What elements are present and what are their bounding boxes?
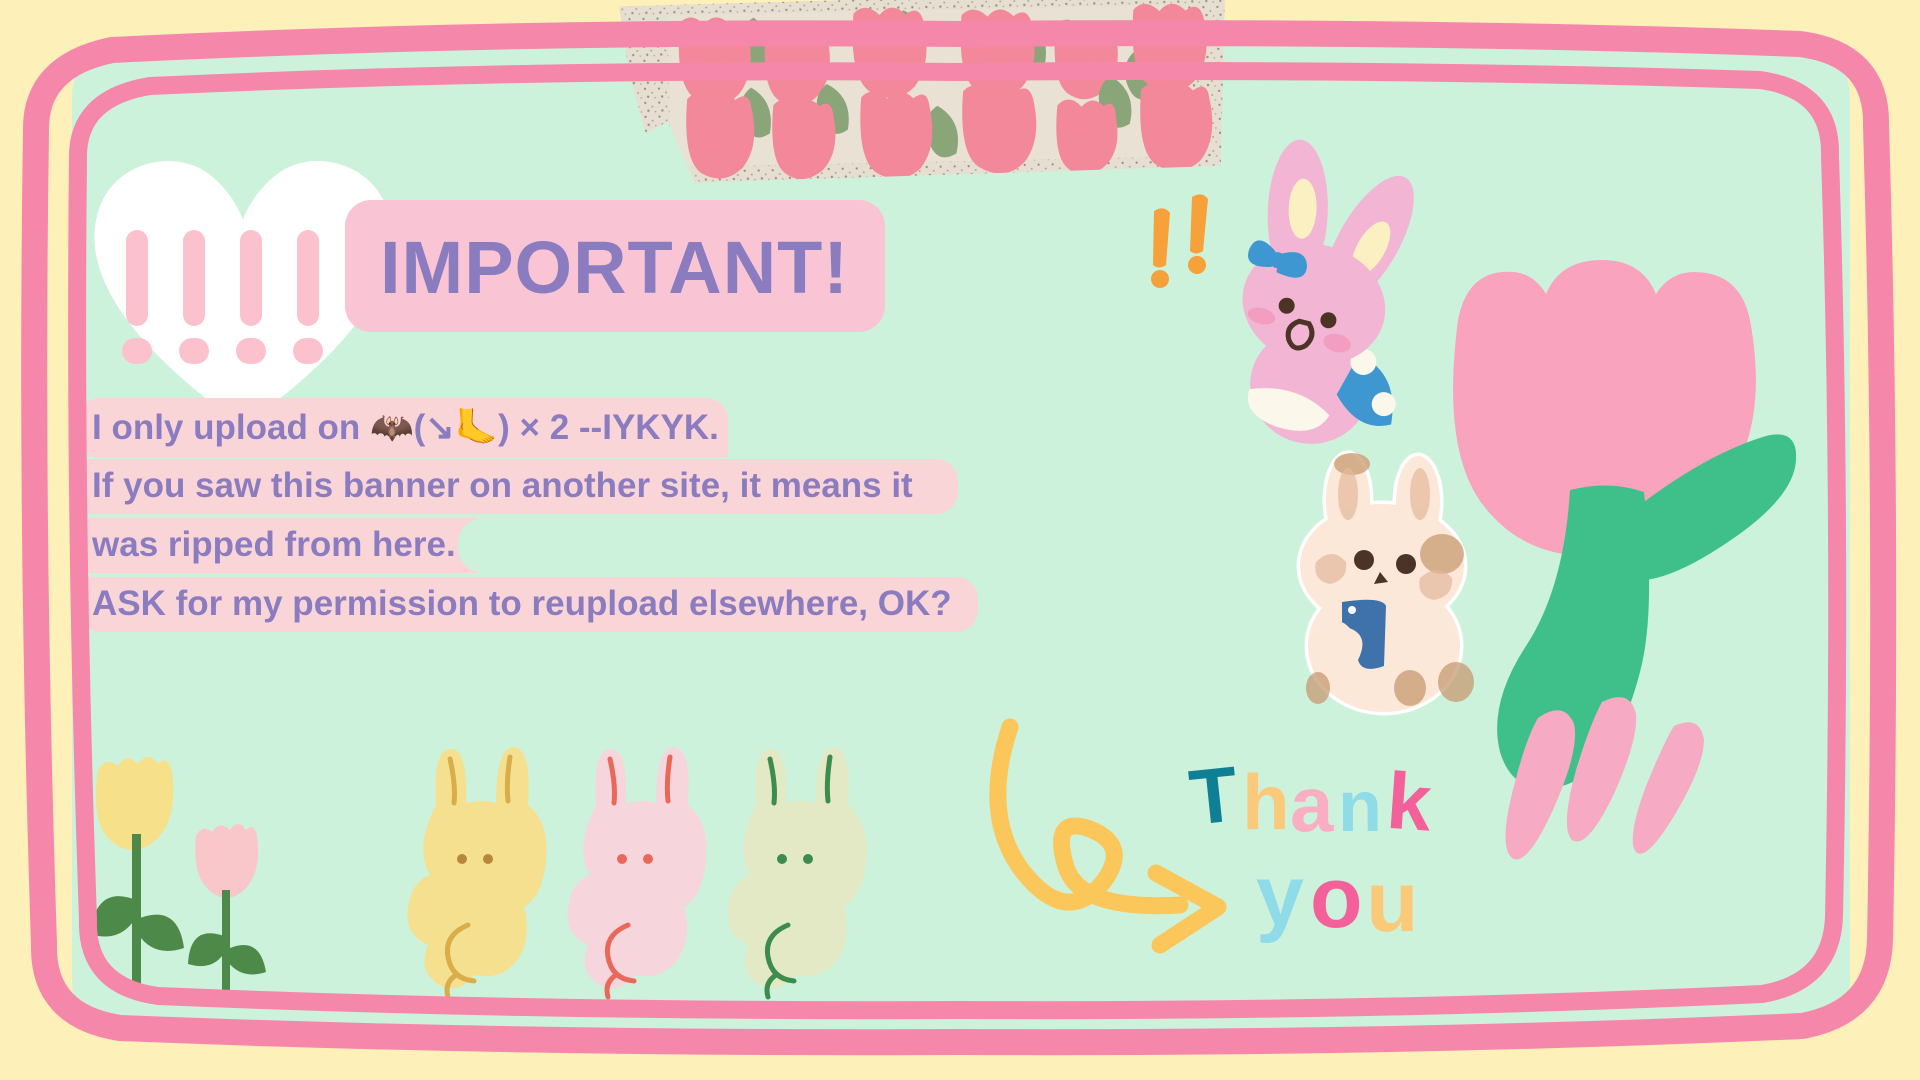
notice-line-text: If you saw this banner on another site, … [92,457,913,515]
notice-line: was ripped from here. [78,516,958,575]
notice-line-text: I only upload on 🦇(↘🦶) × 2 --IYKYK. [92,398,719,456]
small-tulips-group [90,750,340,1010]
thank-you-letter-k: k [1384,756,1435,848]
thank-you-letter-n: n [1338,767,1382,847]
gummy-bunny-yellow [407,747,546,997]
thank-you-letter-u: u [1366,854,1419,950]
banner-canvas: IMPORTANT! I only upload on 🦇(↘🦶) × 2 --… [0,0,1920,1080]
washi-tape-tulips [613,0,1237,184]
pink-bunny-sticker [1180,155,1470,460]
thank-you-letter-o: o [1310,850,1363,946]
thank-you-letter-y: y [1256,848,1304,944]
thank-you-lettering: T h a n k y o u [1190,755,1510,945]
gummy-bunnies-row [400,745,960,1005]
notice-text-block: I only upload on 🦇(↘🦶) × 2 --IYKYK. If y… [78,398,958,598]
thank-you-letter-h: h [1242,758,1290,846]
thank-you-letter-a: a [1290,760,1334,848]
small-tulip-pink [188,824,266,998]
notice-line-text: was ripped from here. [92,516,456,574]
notice-line: If you saw this banner on another site, … [78,457,958,516]
notice-line: ASK for my permission to reupload elsewh… [78,575,958,634]
notice-line: I only upload on 🦇(↘🦶) × 2 --IYKYK. [78,398,958,457]
thank-you-letter-T: T [1186,749,1243,841]
notice-line-text: ASK for my permission to reupload elsewh… [92,575,952,633]
page-title: IMPORTANT! [380,210,900,325]
gummy-bunny-pink [567,747,706,997]
small-tulip-yellow [90,757,184,984]
gummy-bunny-green [727,747,866,997]
